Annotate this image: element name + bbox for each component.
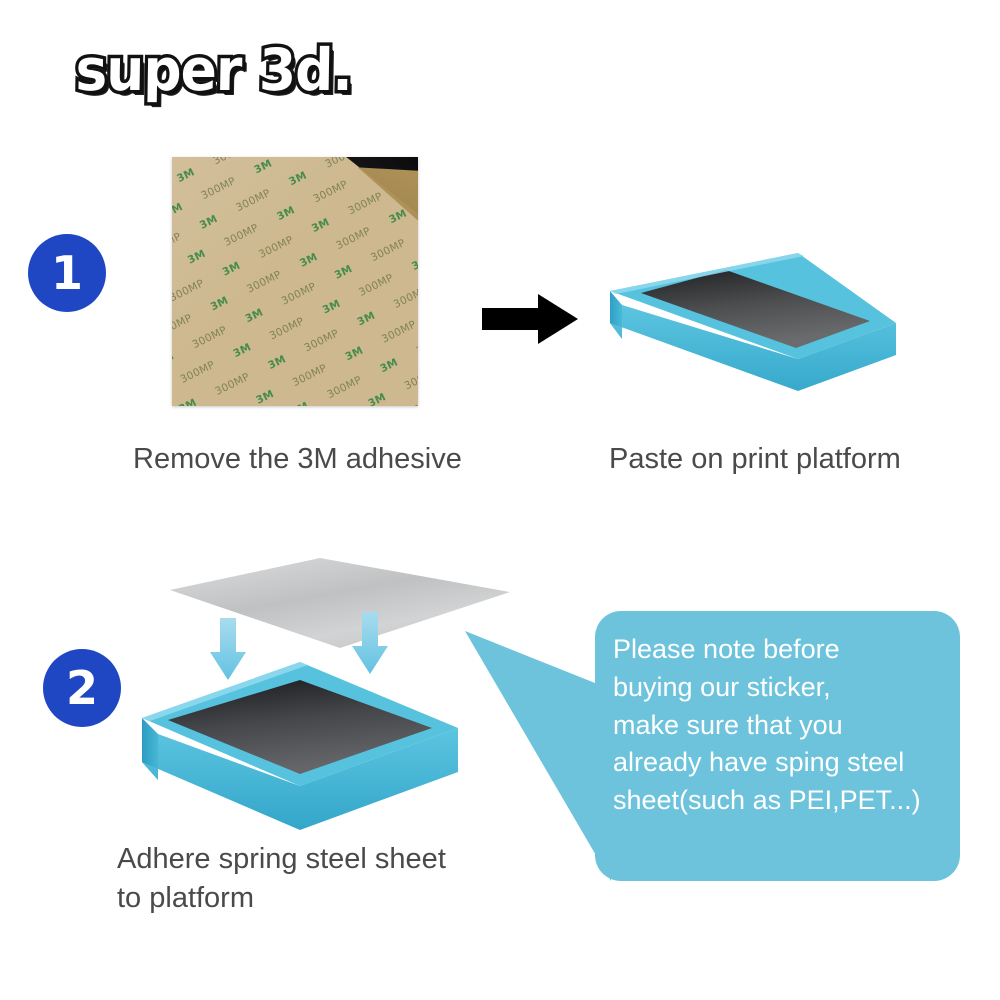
adhesive-print-token: 3M [333,263,355,282]
adhesive-print-token: 3M [175,166,197,185]
adhesive-print-token: 3M [366,391,388,406]
adhesive-print-token: 3M [231,341,253,360]
arrow-right-icon [482,290,578,348]
adhesive-print-token: 3M [289,400,311,406]
adhesive-print-token: 3M [355,310,377,329]
callout-text: Please note before buying our sticker, m… [613,631,950,820]
adhesive-print-token: 3M [172,201,185,220]
caption-remove-adhesive: Remove the 3M adhesive [133,440,462,479]
adhesive-print-token: 3M [401,403,418,406]
adhesive-print-token: 3M [254,388,276,406]
adhesive-print-token: 3M [275,204,297,223]
adhesive-print-token: 3M [198,213,220,232]
adhesive-print-pattern: 3M300MP3M300MP3M300MP3M300MP3M300MP3M300… [172,157,418,406]
adhesive-print-token: 3M [243,306,265,325]
adhesive-print-token: 3M [387,207,409,226]
step-badge-1: 1 [28,234,106,312]
print-platform-illustration-2 [140,650,460,830]
brand-logo: super 3d. [75,41,352,99]
adhesive-print-token: 3M [310,216,332,235]
adhesive-print-token: 3M [221,260,243,279]
adhesive-print-token: 3M [177,397,199,406]
adhesive-print-token: 3M [209,294,231,313]
adhesive-print-token: 3M [343,344,365,363]
adhesive-sheet-illustration: 3M300MP3M300MP3M300MP3M300MP3M300MP3M300… [172,157,418,406]
adhesive-print-token: 3M [298,251,320,270]
adhesive-print-token: 3M [172,350,176,369]
adhesive-print-token: 3M [378,356,400,375]
note-callout: Please note before buying our sticker, m… [595,611,960,881]
adhesive-print-token: 3M [252,157,274,176]
adhesive-print-token: 3M [321,298,343,317]
adhesive-print-token: 3M [266,353,288,372]
caption-paste-on-platform: Paste on print platform [609,440,901,479]
print-platform-illustration [608,243,896,391]
caption-adhere-steel-sheet: Adhere spring steel sheet to platform [117,840,446,918]
step-badge-2: 2 [43,649,121,727]
adhesive-print-token: 3M [186,248,208,267]
adhesive-print-token: 3M [287,169,309,188]
adhesive-print-token: 3M [410,254,418,273]
instruction-graphic: super 3d. 1 3M300MP3M300MP3M300MP3M300MP… [0,0,1000,1000]
